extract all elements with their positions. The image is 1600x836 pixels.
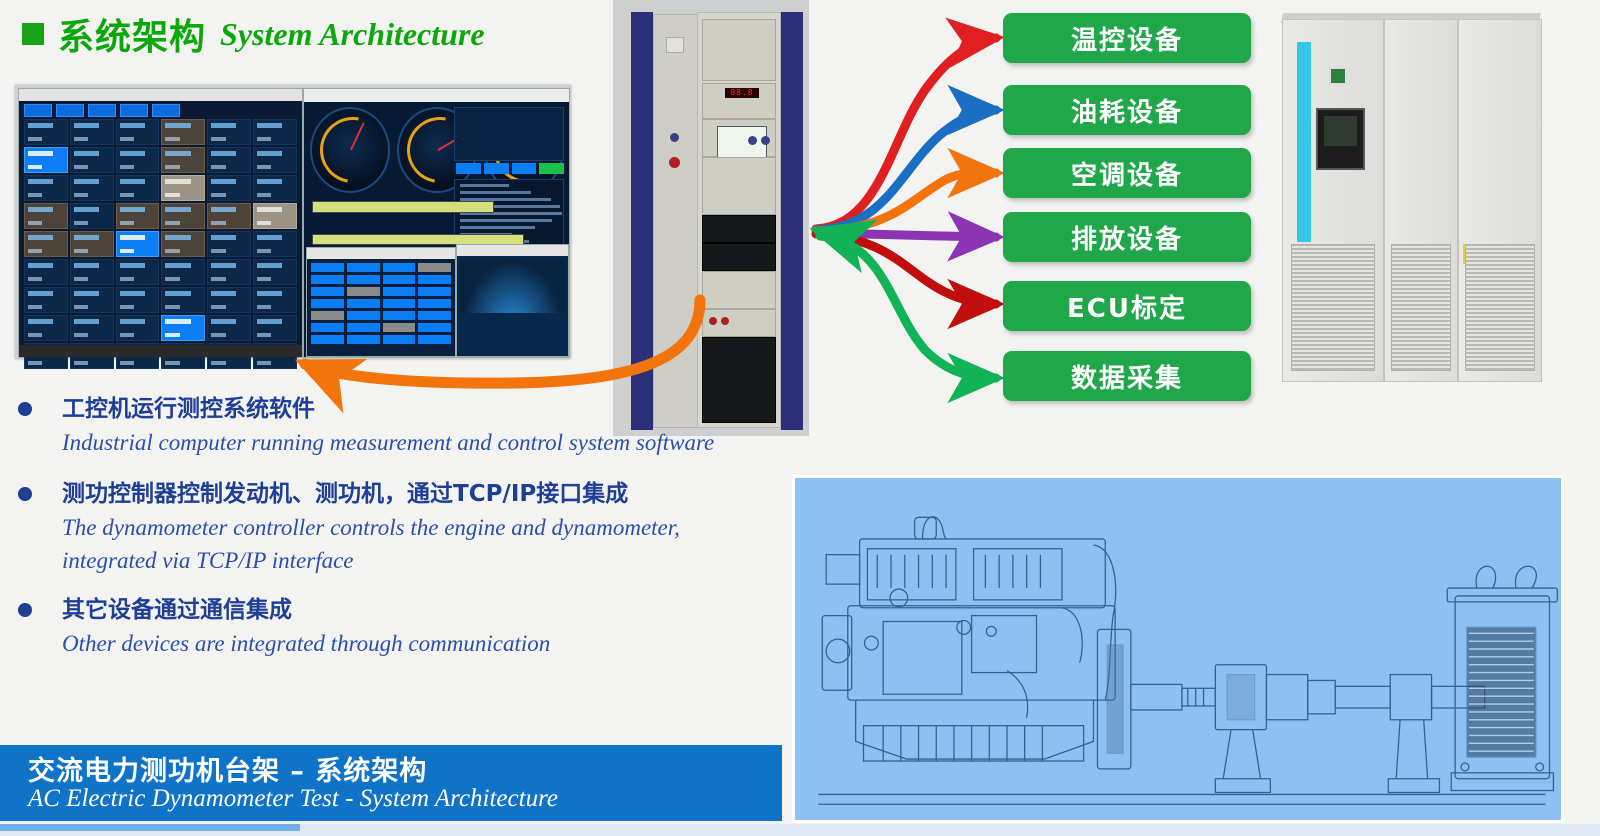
green-square-icon [22, 23, 44, 45]
purple-arrow [818, 233, 996, 237]
hmi-small-button [311, 263, 344, 272]
hmi-measurement-cell [161, 259, 205, 285]
hmi-measurement-cell [24, 287, 68, 313]
footer-title-en: AC Electric Dynamometer Test - System Ar… [28, 785, 558, 813]
emergency-stop-button [669, 157, 680, 168]
surface-map-plot [460, 259, 565, 313]
cabinet-brand-stripe [1297, 42, 1311, 242]
hmi-measurement-cell [116, 231, 160, 257]
device-button-air-conditioning[interactable]: 空调设备 [1003, 148, 1251, 198]
device-button-label: 排放设备 [1071, 219, 1183, 256]
window-titlebar [19, 89, 302, 101]
hmi-measurement-cell [116, 203, 160, 229]
rack-side-panel [781, 12, 803, 430]
device-button-ecu-calibration[interactable]: ECU标定 [1003, 281, 1251, 331]
hmi-measurement-cell [207, 119, 251, 145]
hmi-small-button [418, 323, 451, 332]
page-title: 系统架构 System Architecture [22, 8, 485, 60]
ventilation-grille [1465, 244, 1535, 371]
rack-module-industrial-pc [702, 271, 776, 309]
list-item: 工控机运行测控系统软件 Industrial computer running … [0, 392, 780, 459]
hmi-measurement-cell [161, 287, 205, 313]
hmi-settings-window [306, 247, 456, 357]
module-lcd-screen [717, 126, 767, 158]
hmi-measurement-cell [161, 315, 205, 341]
footer-strip [0, 824, 1600, 836]
hmi-measurement-cell [24, 147, 68, 173]
hmi-small-button [418, 287, 451, 296]
window-menubar [304, 89, 569, 102]
drive-operator-panel [1316, 108, 1365, 170]
hmi-measurement-cell [24, 203, 68, 229]
hmi-small-button [311, 287, 344, 296]
control-button [539, 163, 564, 174]
hmi-measurement-cell [207, 175, 251, 201]
hmi-measurement-cell [70, 203, 114, 229]
hmi-small-button [383, 299, 416, 308]
log-line [460, 226, 535, 229]
green-return-arrowhead [818, 231, 845, 239]
bullet-list: 工控机运行测控系统软件 Industrial computer running … [0, 392, 780, 666]
hmi-tab [24, 104, 52, 117]
hmi-measurement-cell [24, 119, 68, 145]
hmi-data-grid-window [18, 88, 303, 358]
hmi-measurement-cell [161, 119, 205, 145]
settings-button-grid [307, 259, 455, 348]
list-item: 其它设备通过通信集成 Other devices are integrated … [0, 593, 780, 660]
rack-module-power-supply [702, 309, 776, 337]
hmi-tab-strip [24, 104, 180, 117]
device-button-label: 数据采集 [1071, 358, 1183, 395]
hmi-measurement-cell [161, 203, 205, 229]
hmi-small-button [383, 335, 416, 344]
hmi-measurement-cell [70, 231, 114, 257]
hmi-measurement-cell [161, 231, 205, 257]
green-arrow [820, 236, 996, 378]
rack-side-panel [631, 12, 653, 430]
hmi-small-button [418, 275, 451, 284]
hmi-measurement-cell [253, 203, 297, 229]
hmi-measurement-cell [207, 287, 251, 313]
hmi-small-button [347, 263, 380, 272]
hmi-small-button [418, 335, 451, 344]
cabinet-bay [1384, 19, 1458, 382]
indicator-lamp [721, 317, 729, 325]
selector-knob [670, 133, 679, 142]
hmi-gauge-window [303, 88, 570, 358]
status-indicator-panel [454, 107, 564, 161]
rack-module-wiring [702, 157, 776, 215]
hmi-small-button [311, 311, 344, 320]
hmi-measurement-cell [116, 287, 160, 313]
hmi-measurement-cell [161, 147, 205, 173]
cabinet-bay [1282, 19, 1384, 382]
hmi-measurement-cell [116, 315, 160, 341]
rack-equipment-column: 88.8 [697, 12, 781, 428]
hmi-measurement-cell [70, 259, 114, 285]
device-button-emission[interactable]: 排放设备 [1003, 212, 1251, 262]
device-button-temperature-control[interactable]: 温控设备 [1003, 13, 1251, 63]
module-knob [748, 136, 757, 145]
hmi-tab [56, 104, 84, 117]
control-button [512, 163, 537, 174]
seven-segment-display: 88.8 [725, 88, 759, 98]
hmi-measurement-cell [116, 119, 160, 145]
bullet-dot-icon [18, 603, 32, 617]
hmi-measurement-cell [207, 147, 251, 173]
hmi-measurement-cell [253, 119, 297, 145]
hmi-measurement-cell [207, 315, 251, 341]
module-knob [761, 136, 770, 145]
engine-line-drawing [795, 478, 1561, 820]
bullet-cn: 其它设备通过通信集成 [62, 593, 780, 627]
device-button-data-acquisition[interactable]: 数据采集 [1003, 351, 1251, 401]
control-button-row [456, 163, 564, 174]
hmi-measurement-cell [161, 175, 205, 201]
door-label [666, 37, 684, 53]
blue-arrow [816, 110, 996, 230]
hmi-measurement-cell [70, 315, 114, 341]
hmi-measurement-cell [253, 315, 297, 341]
hmi-measurement-cell [70, 119, 114, 145]
device-button-label: 油耗设备 [1071, 92, 1183, 129]
hmi-small-button [383, 275, 416, 284]
hmi-measurement-cell [253, 175, 297, 201]
hmi-measurement-grid [24, 119, 297, 369]
hmi-measurement-cell [207, 203, 251, 229]
drive-cabinet-photo [1272, 5, 1562, 390]
bullet-en: The dynamometer controller controls the … [62, 511, 752, 577]
hmi-small-button [418, 299, 451, 308]
hmi-measurement-cell [70, 175, 114, 201]
rack-module-blank [702, 19, 776, 81]
progress-bar [312, 201, 494, 213]
hmi-measurement-cell [253, 231, 297, 257]
hmi-measurement-cell [253, 259, 297, 285]
hmi-small-button [347, 323, 380, 332]
hmi-measurement-cell [116, 175, 160, 201]
hmi-small-button [418, 263, 451, 272]
bullet-cn: 工控机运行测控系统软件 [62, 392, 780, 426]
rack-module-display: 88.8 [702, 83, 776, 119]
device-button-label: ECU标定 [1067, 288, 1187, 325]
rack-module-panel [702, 119, 776, 157]
window-titlebar [307, 248, 455, 259]
hmi-small-button [347, 287, 380, 296]
list-item: 测功控制器控制发动机、测功机，通过TCP/IP接口集成 The dynamome… [0, 477, 780, 577]
rack-door [653, 14, 699, 428]
bullet-en: Industrial computer running measurement … [62, 426, 752, 459]
red-arrow [816, 38, 996, 229]
hmi-measurement-cell [253, 147, 297, 173]
hmi-small-button [311, 299, 344, 308]
footer-banner: 交流电力测功机台架 – 系统架构 AC Electric Dynamometer… [0, 745, 782, 821]
ventilation-grille [1291, 244, 1375, 371]
dark-red-arrow [816, 234, 996, 304]
orange-arrow [816, 173, 996, 231]
hmi-measurement-cell [116, 147, 160, 173]
hmi-tab [152, 104, 180, 117]
hmi-small-button [347, 335, 380, 344]
hmi-tab [88, 104, 116, 117]
log-line [460, 191, 531, 194]
hmi-measurement-cell [253, 287, 297, 313]
bullet-dot-icon [18, 487, 32, 501]
device-button-label: 温控设备 [1071, 20, 1183, 57]
hmi-map-window [456, 244, 569, 357]
bullet-dot-icon [18, 402, 32, 416]
hmi-small-button [311, 323, 344, 332]
hmi-screenshot-photo [15, 85, 571, 359]
hmi-small-button [418, 311, 451, 320]
ventilation-grille [1391, 244, 1451, 371]
engine-dynamometer-diagram [792, 475, 1564, 823]
bullet-cn: 测功控制器控制发动机、测功机，通过TCP/IP接口集成 [62, 477, 780, 511]
hmi-measurement-cell [207, 259, 251, 285]
hmi-small-button [347, 311, 380, 320]
status-led [1329, 67, 1347, 85]
hmi-small-button [383, 311, 416, 320]
hmi-measurement-cell [70, 147, 114, 173]
hmi-measurement-cell [24, 315, 68, 341]
hmi-small-button [311, 275, 344, 284]
indicator-lamp [709, 317, 717, 325]
page-title-cn: 系统架构 [58, 8, 206, 60]
bullet-en: Other devices are integrated through com… [62, 627, 752, 660]
hmi-measurement-cell [24, 175, 68, 201]
window-statusbar [19, 345, 302, 357]
hmi-measurement-cell [70, 287, 114, 313]
hmi-small-button [383, 287, 416, 296]
control-button [456, 163, 481, 174]
hmi-small-button [311, 335, 344, 344]
log-line [460, 184, 509, 187]
hmi-small-button [383, 263, 416, 272]
device-button-fuel-consumption[interactable]: 油耗设备 [1003, 85, 1251, 135]
hmi-measurement-cell [207, 231, 251, 257]
rack-module-amplifier [702, 215, 776, 243]
slide-canvas: 系统架构 System Architecture [0, 0, 1600, 836]
device-button-label: 空调设备 [1071, 155, 1183, 192]
footer-title-cn: 交流电力测功机台架 – 系统架构 [28, 749, 427, 788]
hmi-measurement-cell [116, 259, 160, 285]
rack-module-amplifier [702, 243, 776, 271]
hmi-small-button [347, 275, 380, 284]
page-title-en: System Architecture [220, 16, 485, 53]
hmi-measurement-cell [24, 259, 68, 285]
hmi-tab [120, 104, 148, 117]
hmi-small-button [347, 299, 380, 308]
hmi-small-button [383, 323, 416, 332]
control-button [484, 163, 509, 174]
speed-gauge [310, 107, 390, 193]
window-titlebar [457, 245, 568, 256]
hmi-measurement-cell [24, 231, 68, 257]
log-line [460, 219, 552, 222]
control-rack-photo: 88.8 [613, 0, 809, 436]
cabinet-bay [1458, 19, 1542, 382]
